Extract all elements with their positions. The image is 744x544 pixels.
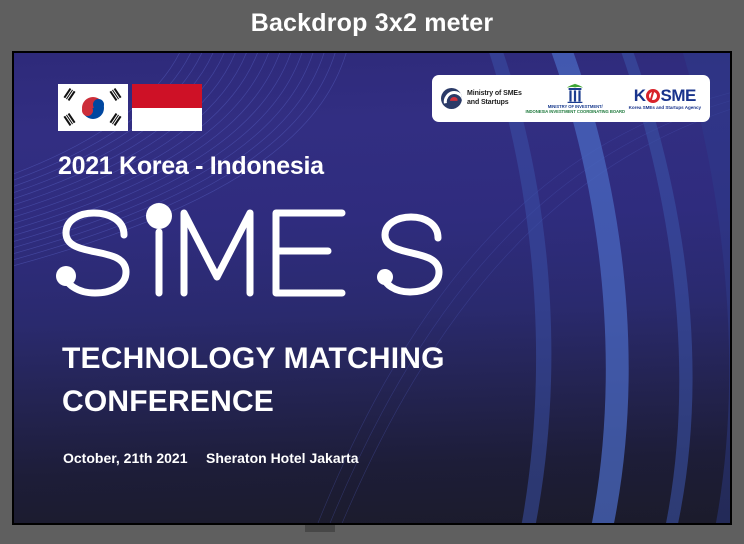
backdrop-poster: Ministry of SMEs and Startups bbox=[12, 51, 732, 525]
poster-stand-tab bbox=[305, 525, 335, 532]
headline-line-1: TECHNOLOGY MATCHING bbox=[62, 342, 445, 375]
flag-stripe-red bbox=[132, 84, 202, 108]
bkpm-banyan-tree-icon bbox=[562, 83, 588, 103]
logo-line-1: Ministry of SMEs bbox=[467, 90, 522, 98]
headline-line-2: CONFERENCE bbox=[62, 380, 445, 423]
poster-canvas: Ministry of SMEs and Startups bbox=[14, 53, 730, 523]
ministry-of-investment-bkpm-logo: MINISTRY OF INVESTMENT/ INDONESIA INVEST… bbox=[525, 83, 624, 114]
trigram-icon bbox=[64, 113, 76, 126]
partner-logo-bar: Ministry of SMEs and Startups bbox=[432, 75, 710, 122]
event-venue: Sheraton Hotel Jakarta bbox=[206, 448, 359, 468]
indonesia-flag-icon bbox=[132, 84, 202, 131]
ministry-of-smes-and-startups-label: Ministry of SMEs and Startups bbox=[467, 90, 522, 107]
trigram-icon bbox=[110, 113, 122, 126]
bkpm-label: MINISTRY OF INVESTMENT/ INDONESIA INVEST… bbox=[525, 104, 624, 114]
kosme-letters-sme: SME bbox=[661, 87, 696, 104]
screenshot-root: Backdrop 3x2 meter bbox=[0, 0, 744, 544]
taeguk-icon bbox=[82, 97, 104, 119]
south-korea-flag-icon bbox=[58, 84, 128, 131]
taeguk-swirl-icon bbox=[441, 88, 462, 109]
smes-logotype bbox=[52, 192, 452, 307]
event-headline: TECHNOLOGY MATCHING CONFERENCE bbox=[62, 337, 445, 423]
ministry-of-smes-and-startups-logo: Ministry of SMEs and Startups bbox=[441, 88, 522, 109]
logo-line-2: INDONESIA INVESTMENT COORDINATING BOARD bbox=[525, 109, 624, 114]
event-date: October, 21th 2021 bbox=[63, 448, 206, 468]
kosme-logo: K SME Korea SMEs and Startups Agency bbox=[629, 87, 701, 110]
event-meta: October, 21th 2021 Sheraton Hotel Jakart… bbox=[63, 448, 359, 468]
kosme-subtitle: Korea SMEs and Startups Agency bbox=[629, 105, 701, 110]
page-title: Backdrop 3x2 meter bbox=[0, 6, 744, 40]
trigram-icon bbox=[64, 88, 76, 101]
kosme-letter-k: K bbox=[634, 87, 646, 104]
kosme-globe-icon bbox=[646, 89, 660, 103]
kosme-wordmark: K SME bbox=[634, 87, 696, 104]
trigram-icon bbox=[110, 88, 122, 101]
event-kicker: 2021 Korea - Indonesia bbox=[58, 151, 324, 181]
flag-row bbox=[58, 84, 202, 131]
logo-line-2: and Startups bbox=[467, 99, 522, 107]
